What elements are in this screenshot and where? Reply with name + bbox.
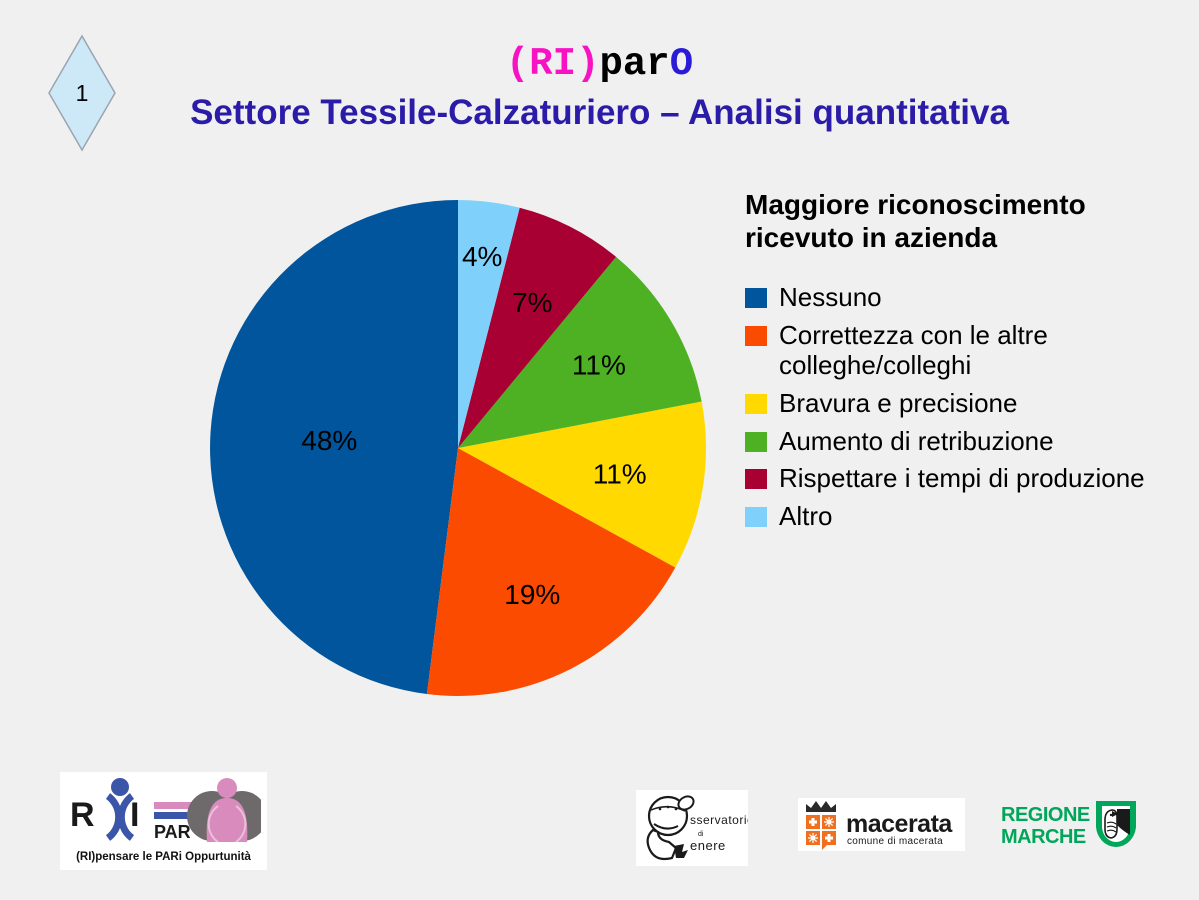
svg-text:macerata: macerata [846,810,953,838]
brand-part-ri: (RI) [506,42,600,86]
brand-title: (RI)parO [0,42,1199,86]
svg-text:R: R [70,796,95,834]
brand-part-par: par [600,42,670,86]
svg-text:sservatorio: sservatorio [690,813,748,827]
legend-item[interactable]: Nessuno [745,282,1175,313]
legend-item-label: Correttezza con le altre colleghe/colleg… [779,320,1149,381]
legend-swatch-icon [745,394,767,414]
ripar-logo-mark: R I PAR [66,776,261,846]
svg-text:enere: enere [690,838,726,853]
page-title: Settore Tessile-Calzaturiero – Analisi q… [0,93,1199,133]
svg-text:PAR: PAR [154,822,191,842]
macerata-logo-mark: macerata comune di macerata [798,798,965,851]
ripar-logo-caption: (RI)pensare le PARi Oppurtunità [66,851,261,863]
pie-slice-label: 4% [462,241,502,272]
legend-item[interactable]: Aumento di retribuzione [745,426,1175,457]
pie-slices-group [210,200,706,696]
legend-item[interactable]: Bravura e precisione [745,388,1175,419]
brand-part-o: O [670,42,693,86]
logo-osservatorio-di-genere: sservatorio di enere [636,790,748,866]
legend-title-line2: ricevuto in azienda [745,221,1165,254]
pie-slice-label: 11% [593,459,647,490]
legend-item[interactable]: Rispettare i tempi di produzione [745,463,1175,494]
pie-slice-label: 48% [301,425,357,456]
legend-title-line1: Maggiore riconoscimento [745,188,1165,221]
osservatorio-logo-mark: sservatorio di enere [636,790,748,866]
pie-chart-svg: 48%19%11%11%7%4% [198,190,718,710]
logo-ripensare-pari-opportunita: R I PAR (RI)pensare le PARi Oppurtunità [60,772,267,870]
legend-items-list: NessunoCorrettezza con le altre colleghe… [745,282,1175,532]
legend-title: Maggiore riconoscimento ricevuto in azie… [745,188,1165,254]
logo-comune-di-macerata: macerata comune di macerata [798,798,965,851]
legend-item-label: Rispettare i tempi di produzione [779,463,1145,494]
chart-legend: Maggiore riconoscimento ricevuto in azie… [745,188,1175,539]
svg-text:di: di [698,831,704,838]
legend-item-label: Altro [779,501,832,532]
legend-item[interactable]: Correttezza con le altre colleghe/colleg… [745,320,1175,381]
svg-text:MARCHE: MARCHE [1001,826,1086,848]
svg-text:comune di macerata: comune di macerata [847,836,943,847]
logo-regione-marche: REGIONE MARCHE [999,797,1139,851]
legend-item-label: Nessuno [779,282,882,313]
pie-slice-label: 7% [512,287,552,318]
legend-item-label: Aumento di retribuzione [779,426,1054,457]
legend-swatch-icon [745,507,767,527]
legend-item[interactable]: Altro [745,501,1175,532]
pie-slice-label: 19% [504,579,560,610]
svg-text:I: I [130,796,139,834]
pie-chart: 48%19%11%11%7%4% [198,190,718,710]
legend-swatch-icon [745,432,767,452]
pie-slice-label: 11% [572,350,626,381]
legend-swatch-icon [745,288,767,308]
legend-swatch-icon [745,469,767,489]
svg-text:REGIONE: REGIONE [1001,804,1090,826]
legend-swatch-icon [745,326,767,346]
legend-item-label: Bravura e precisione [779,388,1017,419]
regione-marche-logo-mark: REGIONE MARCHE [999,797,1139,851]
